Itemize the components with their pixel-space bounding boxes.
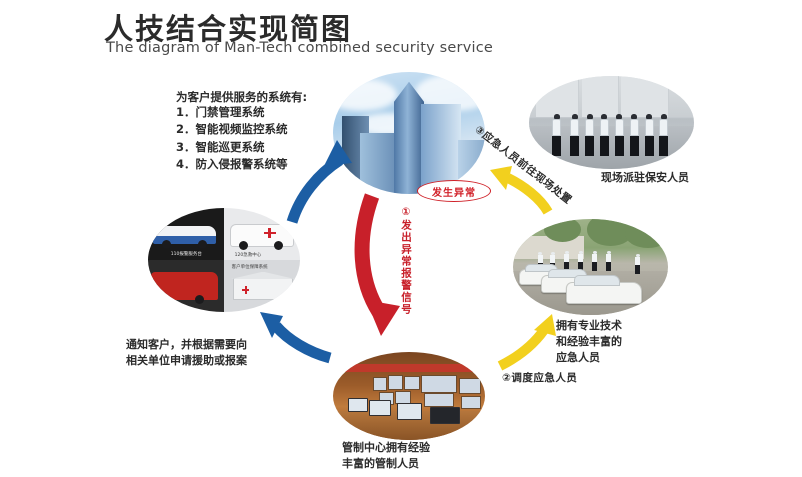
arrow-yellow-right bbox=[500, 314, 556, 366]
list-item: 4．防入侵报警系统等 bbox=[176, 156, 288, 173]
label-step2-dispatch: ②调度应急人员 bbox=[502, 370, 577, 385]
label-client-system: 客户单位保障系统 bbox=[232, 264, 268, 270]
photo-emergency-services: 110报警服务台 120急救中心 客户单位保障系统 bbox=[148, 208, 300, 312]
systems-heading: 为客户提供服务的系统有: bbox=[176, 89, 307, 105]
list-item: 2．智能视频监控系统 bbox=[176, 121, 288, 138]
photo-control-center bbox=[333, 352, 485, 440]
arrow-blue-left bbox=[260, 312, 330, 358]
caption-control-center: 管制中心拥有经验 丰富的管制人员 bbox=[342, 440, 430, 472]
caption-notify-client: 通知客户，并根据需要向 相关单位申请援助或报案 bbox=[126, 337, 247, 369]
list-item: 1．门禁管理系统 bbox=[176, 104, 288, 121]
label-120: 120急救中心 bbox=[235, 252, 262, 258]
badge-anomaly: 发生异常 bbox=[417, 180, 491, 202]
caption-site-guards: 现场派驻保安人员 bbox=[601, 170, 689, 186]
systems-list: 1．门禁管理系统 2．智能视频监控系统 3．智能巡更系统 4．防入侵报警系统等 bbox=[176, 104, 288, 174]
label-110: 110报警服务台 bbox=[171, 251, 202, 257]
label-alarm-signal: ①发出异常报警信号 bbox=[395, 206, 411, 316]
caption-emergency-staff: 拥有专业技术 和经验丰富的 应急人员 bbox=[556, 318, 622, 366]
diagram-canvas: 人技结合实现简图 The diagram of Man-Tech combine… bbox=[0, 0, 802, 477]
photo-site-guards bbox=[529, 76, 694, 169]
photo-buildings bbox=[333, 72, 485, 194]
badge-anomaly-label: 发生异常 bbox=[432, 184, 476, 199]
list-item: 3．智能巡更系统 bbox=[176, 139, 288, 156]
page-subtitle: The diagram of Man-Tech combined securit… bbox=[106, 40, 493, 56]
photo-patrol-cars bbox=[513, 219, 668, 315]
